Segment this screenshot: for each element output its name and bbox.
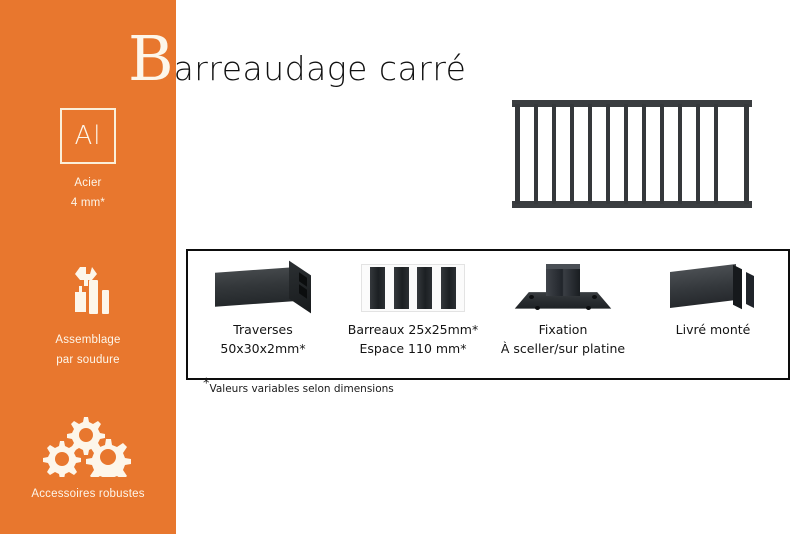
product-sheet: Al Acier 4 mm* Asse (0, 0, 800, 534)
railing-post (515, 104, 520, 204)
railing-post (660, 104, 664, 204)
page-title-capital: B (128, 28, 173, 90)
feature-livre-monte: Livré monté (638, 251, 788, 378)
feature-livre-monte-line1: Livré monté (676, 320, 751, 339)
base-plate-icon (488, 259, 638, 317)
railing-post (678, 104, 682, 204)
feature-barreaux-line2: Espace 110 mm* (360, 339, 467, 358)
railing-post (570, 104, 574, 204)
feature-barreaux: Barreaux 25x25mm* Espace 110 mm* (338, 251, 488, 378)
sidebar-label-assembly-1: Assemblage (0, 330, 176, 350)
sidebar-label-material-2: 4 mm* (0, 193, 176, 213)
railing-illustration (512, 100, 752, 208)
railing-post (588, 104, 592, 204)
feature-panel: Traverses 50x30x2mm* Barreaux 25x25mm* E… (186, 249, 790, 380)
railing-post (696, 104, 700, 204)
feature-traverses: Traverses 50x30x2mm* (188, 251, 338, 378)
railing-post (606, 104, 610, 204)
sidebar-item-accessories: Accessoires robustes (0, 412, 176, 504)
footnote-text: Valeurs variables selon dimensions (210, 383, 394, 395)
feature-traverses-line1: Traverses (233, 320, 293, 339)
welding-wrench-icon (0, 258, 176, 326)
railing-post (714, 104, 718, 204)
sidebar-item-assembly: Assemblage par soudure (0, 258, 176, 370)
feature-barreaux-line1: Barreaux 25x25mm* (348, 320, 478, 339)
sidebar-item-material: Al Acier 4 mm* (0, 108, 176, 213)
sidebar-label-material-1: Acier (0, 173, 176, 193)
footnote: *Valeurs variables selon dimensions (203, 383, 394, 395)
gears-icon (0, 412, 176, 480)
al-badge-text: Al (74, 123, 101, 149)
al-square-icon: Al (60, 108, 116, 164)
tube-profile-icon (188, 259, 338, 317)
assembled-panel-icon (638, 259, 788, 317)
railing-post (642, 104, 646, 204)
feature-traverses-line2: 50x30x2mm* (220, 339, 305, 358)
square-bars-icon (338, 259, 488, 317)
sidebar-label-assembly-2: par soudure (0, 350, 176, 370)
feature-fixation-line2: À sceller/sur platine (501, 339, 625, 358)
railing-post (624, 104, 628, 204)
feature-fixation-line1: Fixation (539, 320, 588, 339)
railing-post (552, 104, 556, 204)
page-title-rest: arreaudage carré (174, 52, 467, 85)
page-title: B arreaudage carré (128, 28, 466, 98)
railing-post (744, 104, 749, 204)
sidebar-label-accessories-1: Accessoires robustes (0, 484, 176, 504)
railing-post (534, 104, 538, 204)
feature-fixation: Fixation À sceller/sur platine (488, 251, 638, 378)
